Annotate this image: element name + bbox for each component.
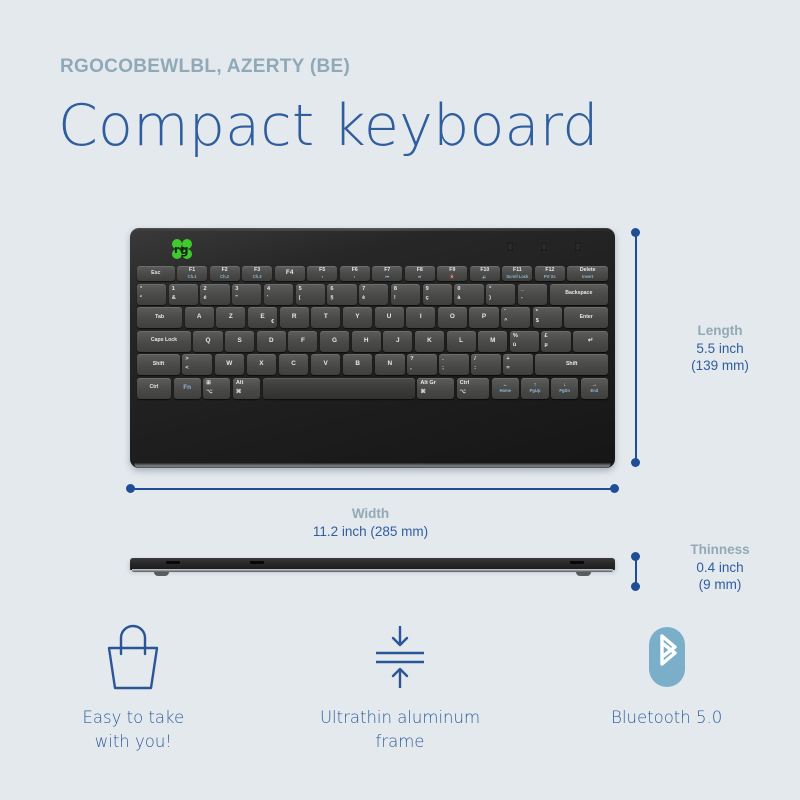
keycap-secondary-legend: Prt Sc bbox=[544, 275, 556, 279]
key-v[interactable]: V bbox=[311, 354, 341, 375]
keycap-primary-legend: R bbox=[292, 314, 297, 321]
keycap-primary-legend: F12 bbox=[545, 268, 554, 273]
keycap-primary-legend: ( bbox=[299, 296, 301, 302]
keycap-altgr-legend: € bbox=[271, 320, 274, 325]
key-delete[interactable]: DeleteInsert bbox=[567, 266, 608, 281]
keycap-secondary-legend: ◐ bbox=[353, 275, 355, 279]
length-value-mm: (139 mm) bbox=[655, 357, 785, 375]
keycap-secondary-legend: > bbox=[185, 357, 188, 363]
key-f[interactable]: F bbox=[288, 331, 317, 352]
keycap-primary-legend: Z bbox=[229, 314, 233, 321]
key-f4[interactable]: F4 bbox=[275, 266, 305, 281]
keycap-primary-legend: J bbox=[396, 338, 400, 345]
key-f7[interactable]: F7⏮ bbox=[372, 266, 402, 281]
keycap-secondary-legend: _ bbox=[521, 287, 524, 293]
feature-ultrathin: Ultrathin aluminum frame bbox=[267, 618, 534, 754]
keycap-primary-legend: N bbox=[387, 361, 392, 368]
keycap-primary-legend: T bbox=[324, 314, 328, 321]
key-f8[interactable]: F8⏯ bbox=[405, 266, 435, 281]
keyboard-side-view bbox=[130, 556, 615, 578]
keycap-primary-legend: F3 bbox=[254, 268, 260, 273]
key-x[interactable]: X bbox=[247, 354, 277, 375]
keycap-secondary-legend: PgDn bbox=[559, 389, 570, 393]
key-f9[interactable]: F9🔇 bbox=[437, 266, 467, 281]
feature-portability: Easy to take with you! bbox=[0, 618, 267, 754]
keycap-primary-legend: é bbox=[203, 296, 206, 302]
key-f5[interactable]: F5◑ bbox=[307, 266, 337, 281]
keycap-secondary-legend: 4 bbox=[267, 287, 270, 293]
keycap-secondary-legend: Ch.3 bbox=[253, 275, 262, 279]
feature-caption-line1: Bluetooth 5.0 bbox=[611, 708, 722, 727]
key-f6[interactable]: F6◐ bbox=[340, 266, 370, 281]
key-[interactable]: += bbox=[503, 354, 533, 375]
key-n[interactable]: N bbox=[375, 354, 405, 375]
key-b[interactable]: B bbox=[343, 354, 373, 375]
feature-caption-line1: Ultrathin aluminum bbox=[320, 708, 480, 727]
product-model-code: RGOCOBEWLBL, AZERTY (BE) bbox=[60, 56, 350, 78]
keycap-secondary-legend: 2 bbox=[203, 287, 206, 293]
keycap-primary-legend: Backspace bbox=[565, 291, 592, 296]
keycap-secondary-legend: Home bbox=[500, 389, 511, 393]
key-f12[interactable]: F12Prt Sc bbox=[535, 266, 565, 281]
key-9[interactable]: 9ç bbox=[423, 284, 452, 305]
keycap-primary-legend: O bbox=[450, 314, 455, 321]
keycap-secondary-legend: 🔉 bbox=[482, 275, 487, 279]
key-alt[interactable]: Alt⌘ bbox=[233, 378, 260, 399]
key-f1[interactable]: F1Ch.1 bbox=[177, 266, 207, 281]
keycap-primary-legend: F7 bbox=[384, 268, 390, 273]
width-caption: Width bbox=[243, 505, 498, 523]
keycap-secondary-legend: Ch.2 bbox=[220, 275, 229, 279]
key-m[interactable]: M bbox=[478, 331, 507, 352]
keycap-secondary-legend: 1 bbox=[172, 287, 175, 293]
keycap-secondary-legend: / bbox=[474, 357, 476, 363]
keycap-primary-legend: ⌥ bbox=[460, 390, 466, 396]
keycap-primary-legend: ^ bbox=[504, 319, 507, 325]
keycap-primary-legend: - bbox=[521, 296, 523, 302]
key-u[interactable]: U bbox=[375, 307, 404, 328]
keycap-primary-legend: ! bbox=[394, 296, 396, 302]
thinness-caption: Thinness bbox=[655, 541, 785, 559]
feature-caption: Ultrathin aluminum frame bbox=[320, 706, 480, 754]
keycap-primary-legend: Shift bbox=[566, 362, 578, 367]
rubber-foot bbox=[154, 572, 169, 576]
key-row-home: Caps LockQSDFGHJKLM%ù£µ↵ bbox=[137, 331, 608, 352]
led-indicator bbox=[541, 242, 547, 251]
keycap-primary-legend: " bbox=[235, 296, 238, 302]
length-endpoint-bottom bbox=[631, 458, 640, 467]
keycap-secondary-legend: 3 bbox=[235, 287, 238, 293]
keycap-primary-legend: è bbox=[362, 296, 365, 302]
keycap-secondary-legend: 6 bbox=[330, 287, 333, 293]
key-[interactable]: _- bbox=[518, 284, 547, 305]
key-f11[interactable]: F11Scroll Lock bbox=[502, 266, 532, 281]
key-[interactable]: .; bbox=[439, 354, 469, 375]
key-[interactable]: £µ bbox=[541, 331, 570, 352]
feature-caption: Easy to take with you! bbox=[83, 706, 185, 754]
key-[interactable]: ?, bbox=[407, 354, 437, 375]
keycap-primary-legend: F11 bbox=[513, 268, 522, 273]
key-backspace[interactable]: Backspace bbox=[550, 284, 608, 305]
key-shift[interactable]: Shift bbox=[137, 354, 180, 375]
keycap-primary-legend: : bbox=[474, 366, 476, 372]
r-go-logo: r g bbox=[165, 237, 199, 263]
keycap-primary-legend: F5 bbox=[319, 268, 325, 273]
keycap-secondary-legend: Scroll Lock bbox=[506, 275, 528, 279]
page-title: Compact keyboard bbox=[58, 93, 599, 159]
keycap-secondary-legend: £ bbox=[544, 334, 547, 340]
keycap-primary-legend: A bbox=[197, 314, 202, 321]
keycap-primary-legend: F6 bbox=[352, 268, 358, 273]
key-s[interactable]: S bbox=[225, 331, 254, 352]
key-esc[interactable]: Esc bbox=[137, 266, 175, 281]
keycap-primary-legend: Esc bbox=[151, 271, 160, 276]
svg-text:g: g bbox=[180, 243, 189, 257]
keycap-primary-legend: H bbox=[364, 338, 369, 345]
side-slot bbox=[166, 561, 180, 564]
thinness-value-inch: 0.4 inch bbox=[655, 559, 785, 577]
key-e[interactable]: E€ bbox=[248, 307, 277, 328]
shopping-bag-icon bbox=[101, 618, 165, 696]
key-caps-lock[interactable]: Caps Lock bbox=[137, 331, 191, 352]
keycap-primary-legend: Ctrl bbox=[150, 385, 159, 390]
key-g[interactable]: G bbox=[320, 331, 349, 352]
keycap-primary-legend: § bbox=[330, 296, 333, 302]
key-[interactable]: >< bbox=[182, 354, 212, 375]
key-8[interactable]: 8! bbox=[391, 284, 420, 305]
thinness-endpoint-bottom bbox=[631, 582, 640, 591]
keycap-secondary-legend: + bbox=[506, 357, 509, 363]
key-tab[interactable]: Tab bbox=[137, 307, 182, 328]
keycap-secondary-legend: . bbox=[442, 357, 444, 363]
key-k[interactable]: K bbox=[415, 331, 444, 352]
keycap-secondary-legend: Alt bbox=[236, 381, 243, 387]
key-[interactable]: ↑PgUp bbox=[521, 378, 548, 399]
length-caption: Length bbox=[655, 322, 785, 340]
keycap-secondary-legend: PgUp bbox=[530, 389, 541, 393]
keycap-primary-legend: F2 bbox=[222, 268, 228, 273]
key-l[interactable]: L bbox=[447, 331, 476, 352]
keycap-secondary-legend: End bbox=[591, 389, 599, 393]
length-value-inch: 5.5 inch bbox=[655, 340, 785, 358]
keycap-secondary-legend: 7 bbox=[362, 287, 365, 293]
key-space[interactable] bbox=[263, 378, 415, 399]
led-indicator bbox=[575, 242, 581, 251]
keycap-primary-legend: ' bbox=[267, 296, 268, 302]
key-row-number: ³²1&2é3"4'5(6§7è8!9ç0à°)_-Backspace bbox=[137, 284, 608, 305]
keycap-primary-legend: E bbox=[260, 314, 264, 321]
thinness-label: Thinness 0.4 inch (9 mm) bbox=[655, 541, 785, 594]
key-fn[interactable]: Fn bbox=[174, 378, 201, 399]
key-row-tab: TabAZE€RTYUIOP¨^*$Enter bbox=[137, 307, 608, 328]
feature-caption: Bluetooth 5.0 bbox=[611, 706, 722, 730]
keycap-secondary-legend: ⏮ bbox=[385, 275, 389, 279]
key-4[interactable]: 4' bbox=[264, 284, 293, 305]
keycap-primary-legend: K bbox=[427, 338, 432, 345]
key-[interactable]: ↓PgDn bbox=[551, 378, 578, 399]
keycap-secondary-legend: ? bbox=[410, 357, 413, 363]
key-w[interactable]: W bbox=[215, 354, 245, 375]
keycap-secondary-legend: % bbox=[513, 334, 518, 340]
key-row-function: EscF1Ch.1F2Ch.2F3Ch.3F4F5◑F6◐F7⏮F8⏯F9🔇F1… bbox=[137, 266, 608, 281]
keycap-primary-legend: F10 bbox=[480, 268, 489, 273]
keycap-secondary-legend: ° bbox=[489, 287, 491, 293]
keycap-primary-legend: à bbox=[457, 296, 460, 302]
feature-caption-line1: Easy to take bbox=[83, 708, 185, 727]
keycap-primary-legend: F8 bbox=[417, 268, 423, 273]
keycap-secondary-legend: 0 bbox=[457, 287, 460, 293]
keycap-primary-legend: U bbox=[387, 314, 392, 321]
key-i[interactable]: I bbox=[406, 307, 435, 328]
keycap-primary-legend: , bbox=[410, 366, 412, 372]
key-o[interactable]: O bbox=[438, 307, 467, 328]
keycap-secondary-legend: Ch.1 bbox=[188, 275, 197, 279]
key-[interactable]: ↵ bbox=[573, 331, 608, 352]
key-[interactable]: ←Home bbox=[492, 378, 519, 399]
keycap-primary-legend: µ bbox=[544, 343, 547, 349]
key-[interactable]: *$ bbox=[533, 307, 562, 328]
key-ctrl[interactable]: Ctrl bbox=[137, 378, 171, 399]
width-endpoint-right bbox=[610, 484, 619, 493]
key-alt-gr[interactable]: Alt Gr⌘ bbox=[417, 378, 454, 399]
keycap-primary-legend: Q bbox=[205, 338, 210, 345]
key-a[interactable]: A bbox=[185, 307, 214, 328]
key-row-modifier: CtrlFn⊞⌥Alt⌘Alt Gr⌘Ctrl⌥←Home↑PgUp↓PgDn→… bbox=[137, 378, 608, 399]
status-leds bbox=[507, 242, 581, 251]
keycap-secondary-legend: 9 bbox=[426, 287, 429, 293]
keyboard-top-view: r g EscF1Ch.1F2Ch.2F3Ch.3F4F5◑F6◐F7⏮F8⏯F… bbox=[130, 228, 615, 468]
keycap-primary-legend: ⌘ bbox=[236, 390, 242, 396]
key-enter[interactable]: Enter bbox=[564, 307, 608, 328]
keycap-primary-legend: G bbox=[332, 338, 337, 345]
keycap-primary-legend: ù bbox=[513, 343, 516, 349]
key-7[interactable]: 7è bbox=[359, 284, 388, 305]
keycap-primary-legend: L bbox=[459, 338, 463, 345]
keycap-primary-legend: $ bbox=[536, 319, 539, 325]
keycap-secondary-legend: ◑ bbox=[321, 275, 323, 279]
keycap-primary-legend: P bbox=[482, 314, 486, 321]
keycap-primary-legend: F9 bbox=[449, 268, 455, 273]
keycap-secondary-legend: 🔇 bbox=[450, 275, 455, 279]
keycap-primary-legend: C bbox=[291, 361, 296, 368]
length-line bbox=[635, 232, 637, 462]
keycap-primary-legend: Tab bbox=[155, 315, 164, 320]
keycap-primary-legend: D bbox=[269, 338, 274, 345]
key-t[interactable]: T bbox=[311, 307, 340, 328]
side-slot bbox=[250, 561, 264, 564]
key-j[interactable]: J bbox=[383, 331, 412, 352]
keycap-primary-legend: F1 bbox=[189, 268, 195, 273]
key-[interactable]: /: bbox=[471, 354, 501, 375]
keycap-secondary-legend: 8 bbox=[394, 287, 397, 293]
key-p[interactable]: P bbox=[469, 307, 498, 328]
keycap-primary-legend: F bbox=[301, 338, 305, 345]
keycap-primary-legend: B bbox=[355, 361, 360, 368]
key-y[interactable]: Y bbox=[343, 307, 372, 328]
key-[interactable]: →End bbox=[581, 378, 608, 399]
rubber-foot bbox=[576, 572, 591, 576]
key-f10[interactable]: F10🔉 bbox=[470, 266, 500, 281]
keycap-primary-legend: ; bbox=[442, 366, 444, 372]
keycap-primary-legend: S bbox=[237, 338, 241, 345]
key-[interactable]: ¨^ bbox=[501, 307, 530, 328]
key-3[interactable]: 3" bbox=[232, 284, 261, 305]
keycap-secondary-legend: 5 bbox=[299, 287, 302, 293]
side-slot bbox=[570, 561, 584, 564]
key-f3[interactable]: F3Ch.3 bbox=[242, 266, 272, 281]
keycap-secondary-legend: ⏯ bbox=[418, 275, 421, 279]
key-0[interactable]: 0à bbox=[454, 284, 483, 305]
keycap-secondary-legend: Ctrl bbox=[460, 381, 470, 387]
thinness-value-mm: (9 mm) bbox=[655, 576, 785, 594]
width-line bbox=[130, 488, 611, 490]
keycap-secondary-legend: Alt Gr bbox=[420, 381, 436, 387]
key-[interactable]: ⊞⌥ bbox=[203, 378, 230, 399]
keycap-primary-legend: Y bbox=[355, 314, 359, 321]
keycap-primary-legend: ⌘ bbox=[420, 390, 426, 396]
key-[interactable]: ³² bbox=[137, 284, 166, 305]
key-shift[interactable]: Shift bbox=[535, 354, 608, 375]
keycap-primary-legend: X bbox=[259, 361, 263, 368]
keycap-secondary-legend: ³ bbox=[140, 287, 142, 293]
key-1[interactable]: 1& bbox=[169, 284, 198, 305]
key-2[interactable]: 2é bbox=[200, 284, 229, 305]
side-aluminum-strip bbox=[132, 569, 613, 572]
key-q[interactable]: Q bbox=[193, 331, 222, 352]
width-value: 11.2 inch (285 mm) bbox=[243, 523, 498, 541]
width-label: Width 11.2 inch (285 mm) bbox=[243, 505, 498, 540]
feature-caption-line2: frame bbox=[376, 732, 425, 751]
key-r[interactable]: R bbox=[280, 307, 309, 328]
keycap-area: EscF1Ch.1F2Ch.2F3Ch.3F4F5◑F6◐F7⏮F8⏯F9🔇F1… bbox=[137, 266, 608, 401]
bezel-highlight bbox=[130, 228, 615, 231]
keycap-primary-legend: V bbox=[323, 361, 327, 368]
product-infographic: RGOCOBEWLBL, AZERTY (BE) Compact keyboar… bbox=[0, 0, 800, 800]
keycap-primary-legend: F4 bbox=[286, 270, 293, 277]
length-label: Length 5.5 inch (139 mm) bbox=[655, 322, 785, 375]
keycap-secondary-legend: * bbox=[536, 310, 538, 316]
keycap-primary-legend: ⌥ bbox=[206, 390, 212, 396]
keycap-primary-legend: Delete bbox=[580, 268, 596, 273]
aluminum-edge bbox=[134, 463, 611, 468]
bluetooth-icon bbox=[635, 618, 699, 696]
feature-caption-line2: with you! bbox=[95, 732, 172, 751]
keycap-primary-legend: ↵ bbox=[588, 338, 593, 345]
keycap-primary-legend: ² bbox=[140, 296, 142, 302]
key-h[interactable]: H bbox=[352, 331, 381, 352]
keycap-primary-legend: ) bbox=[489, 296, 491, 302]
feature-bluetooth: Bluetooth 5.0 bbox=[533, 618, 800, 754]
keycap-secondary-legend: Insert bbox=[582, 275, 593, 279]
key-f2[interactable]: F2Ch.2 bbox=[210, 266, 240, 281]
keycap-primary-legend: W bbox=[226, 361, 232, 368]
led-indicator bbox=[507, 242, 513, 251]
keycap-primary-legend: M bbox=[490, 338, 495, 345]
key-c[interactable]: C bbox=[279, 354, 309, 375]
keycap-primary-legend: & bbox=[172, 296, 176, 302]
key-d[interactable]: D bbox=[257, 331, 286, 352]
key-[interactable]: °) bbox=[486, 284, 515, 305]
keycap-primary-legend: = bbox=[506, 366, 509, 372]
key-ctrl[interactable]: Ctrl⌥ bbox=[457, 378, 490, 399]
keycap-primary-legend: < bbox=[185, 366, 188, 372]
keycap-primary-legend: Fn bbox=[183, 385, 191, 392]
thinness-arrows-icon bbox=[368, 618, 432, 696]
key-[interactable]: %ù bbox=[510, 331, 539, 352]
key-6[interactable]: 6§ bbox=[327, 284, 356, 305]
keycap-primary-legend: I bbox=[420, 314, 422, 321]
keycap-primary-legend: Enter bbox=[580, 315, 593, 320]
key-z[interactable]: Z bbox=[216, 307, 245, 328]
feature-list: Easy to take with you! Ultrathin aluminu… bbox=[0, 618, 800, 754]
key-5[interactable]: 5( bbox=[296, 284, 325, 305]
keycap-primary-legend: Shift bbox=[153, 362, 165, 367]
keycap-secondary-legend: ¨ bbox=[504, 310, 506, 316]
key-row-shift: Shift><WXCVBN?,.;/:+=Shift bbox=[137, 354, 608, 375]
keycap-secondary-legend: ⊞ bbox=[206, 381, 211, 387]
keycap-primary-legend: Caps Lock bbox=[151, 338, 177, 343]
keycap-primary-legend: ç bbox=[426, 296, 429, 302]
